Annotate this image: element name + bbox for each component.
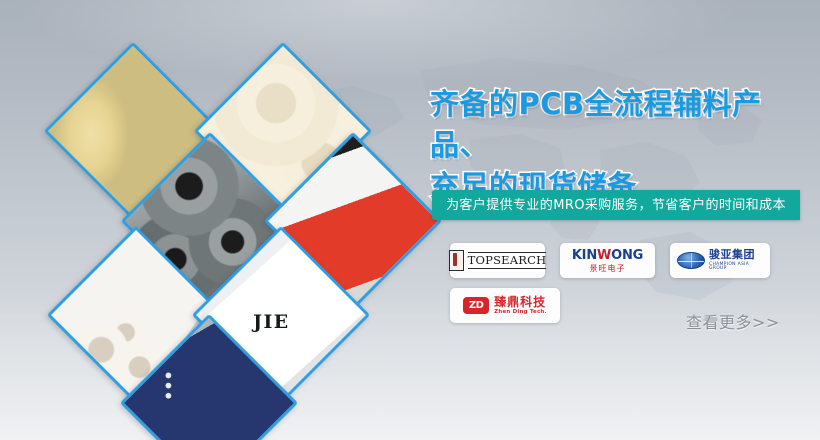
kinwong-label-cn: 景旺电子 bbox=[589, 265, 625, 273]
logo-zhen-ding[interactable]: ZD 臻鼎科技 Zhen Ding Tech. bbox=[450, 288, 560, 323]
headline-block: 齐备的PCB全流程辅料产品、 充足的现货储备 bbox=[430, 84, 810, 208]
navy-panel-dots bbox=[160, 368, 172, 403]
topsearch-label: TOPSEARCH bbox=[468, 252, 547, 270]
kinwong-label: KINWONG bbox=[572, 249, 643, 262]
champion-asia-label-cn: 骏亚集团 bbox=[709, 249, 763, 260]
zhen-ding-label-en: Zhen Ding Tech. bbox=[494, 310, 547, 316]
subtitle-text: 为客户提供专业的MRO采购服务，节省客户的时间和成本 bbox=[446, 199, 786, 212]
view-more-link[interactable]: 查看更多>> bbox=[686, 315, 780, 331]
champion-asia-label-en: CHAMPION ASIA GROUP bbox=[709, 263, 763, 272]
product-collage: JIE bbox=[0, 0, 420, 440]
logo-kinwong[interactable]: KINWONG 景旺电子 bbox=[560, 243, 655, 278]
logo-row-1: TOPSEARCH KINWONG 景旺电子 骏亚集团 CHAMPION ASI… bbox=[450, 243, 790, 278]
logo-topsearch[interactable]: TOPSEARCH bbox=[450, 243, 545, 278]
subtitle-bar: 为客户提供专业的MRO采购服务，节省客户的时间和成本 bbox=[432, 190, 800, 220]
topsearch-mark-icon bbox=[449, 250, 464, 271]
globe-icon bbox=[677, 252, 705, 269]
release-paper-caption: JIE bbox=[253, 312, 289, 334]
zhen-ding-label-cn: 臻鼎科技 bbox=[494, 296, 547, 308]
headline-line-1: 齐备的PCB全流程辅料产品、 bbox=[430, 84, 810, 166]
zhen-ding-mark-icon: ZD bbox=[463, 297, 489, 314]
logo-champion-asia[interactable]: 骏亚集团 CHAMPION ASIA GROUP bbox=[670, 243, 770, 278]
hero-banner: JIE 齐备的PCB全流程辅料产品、 充足的现货储备 为客户提供专业的MRO采购… bbox=[0, 0, 820, 440]
